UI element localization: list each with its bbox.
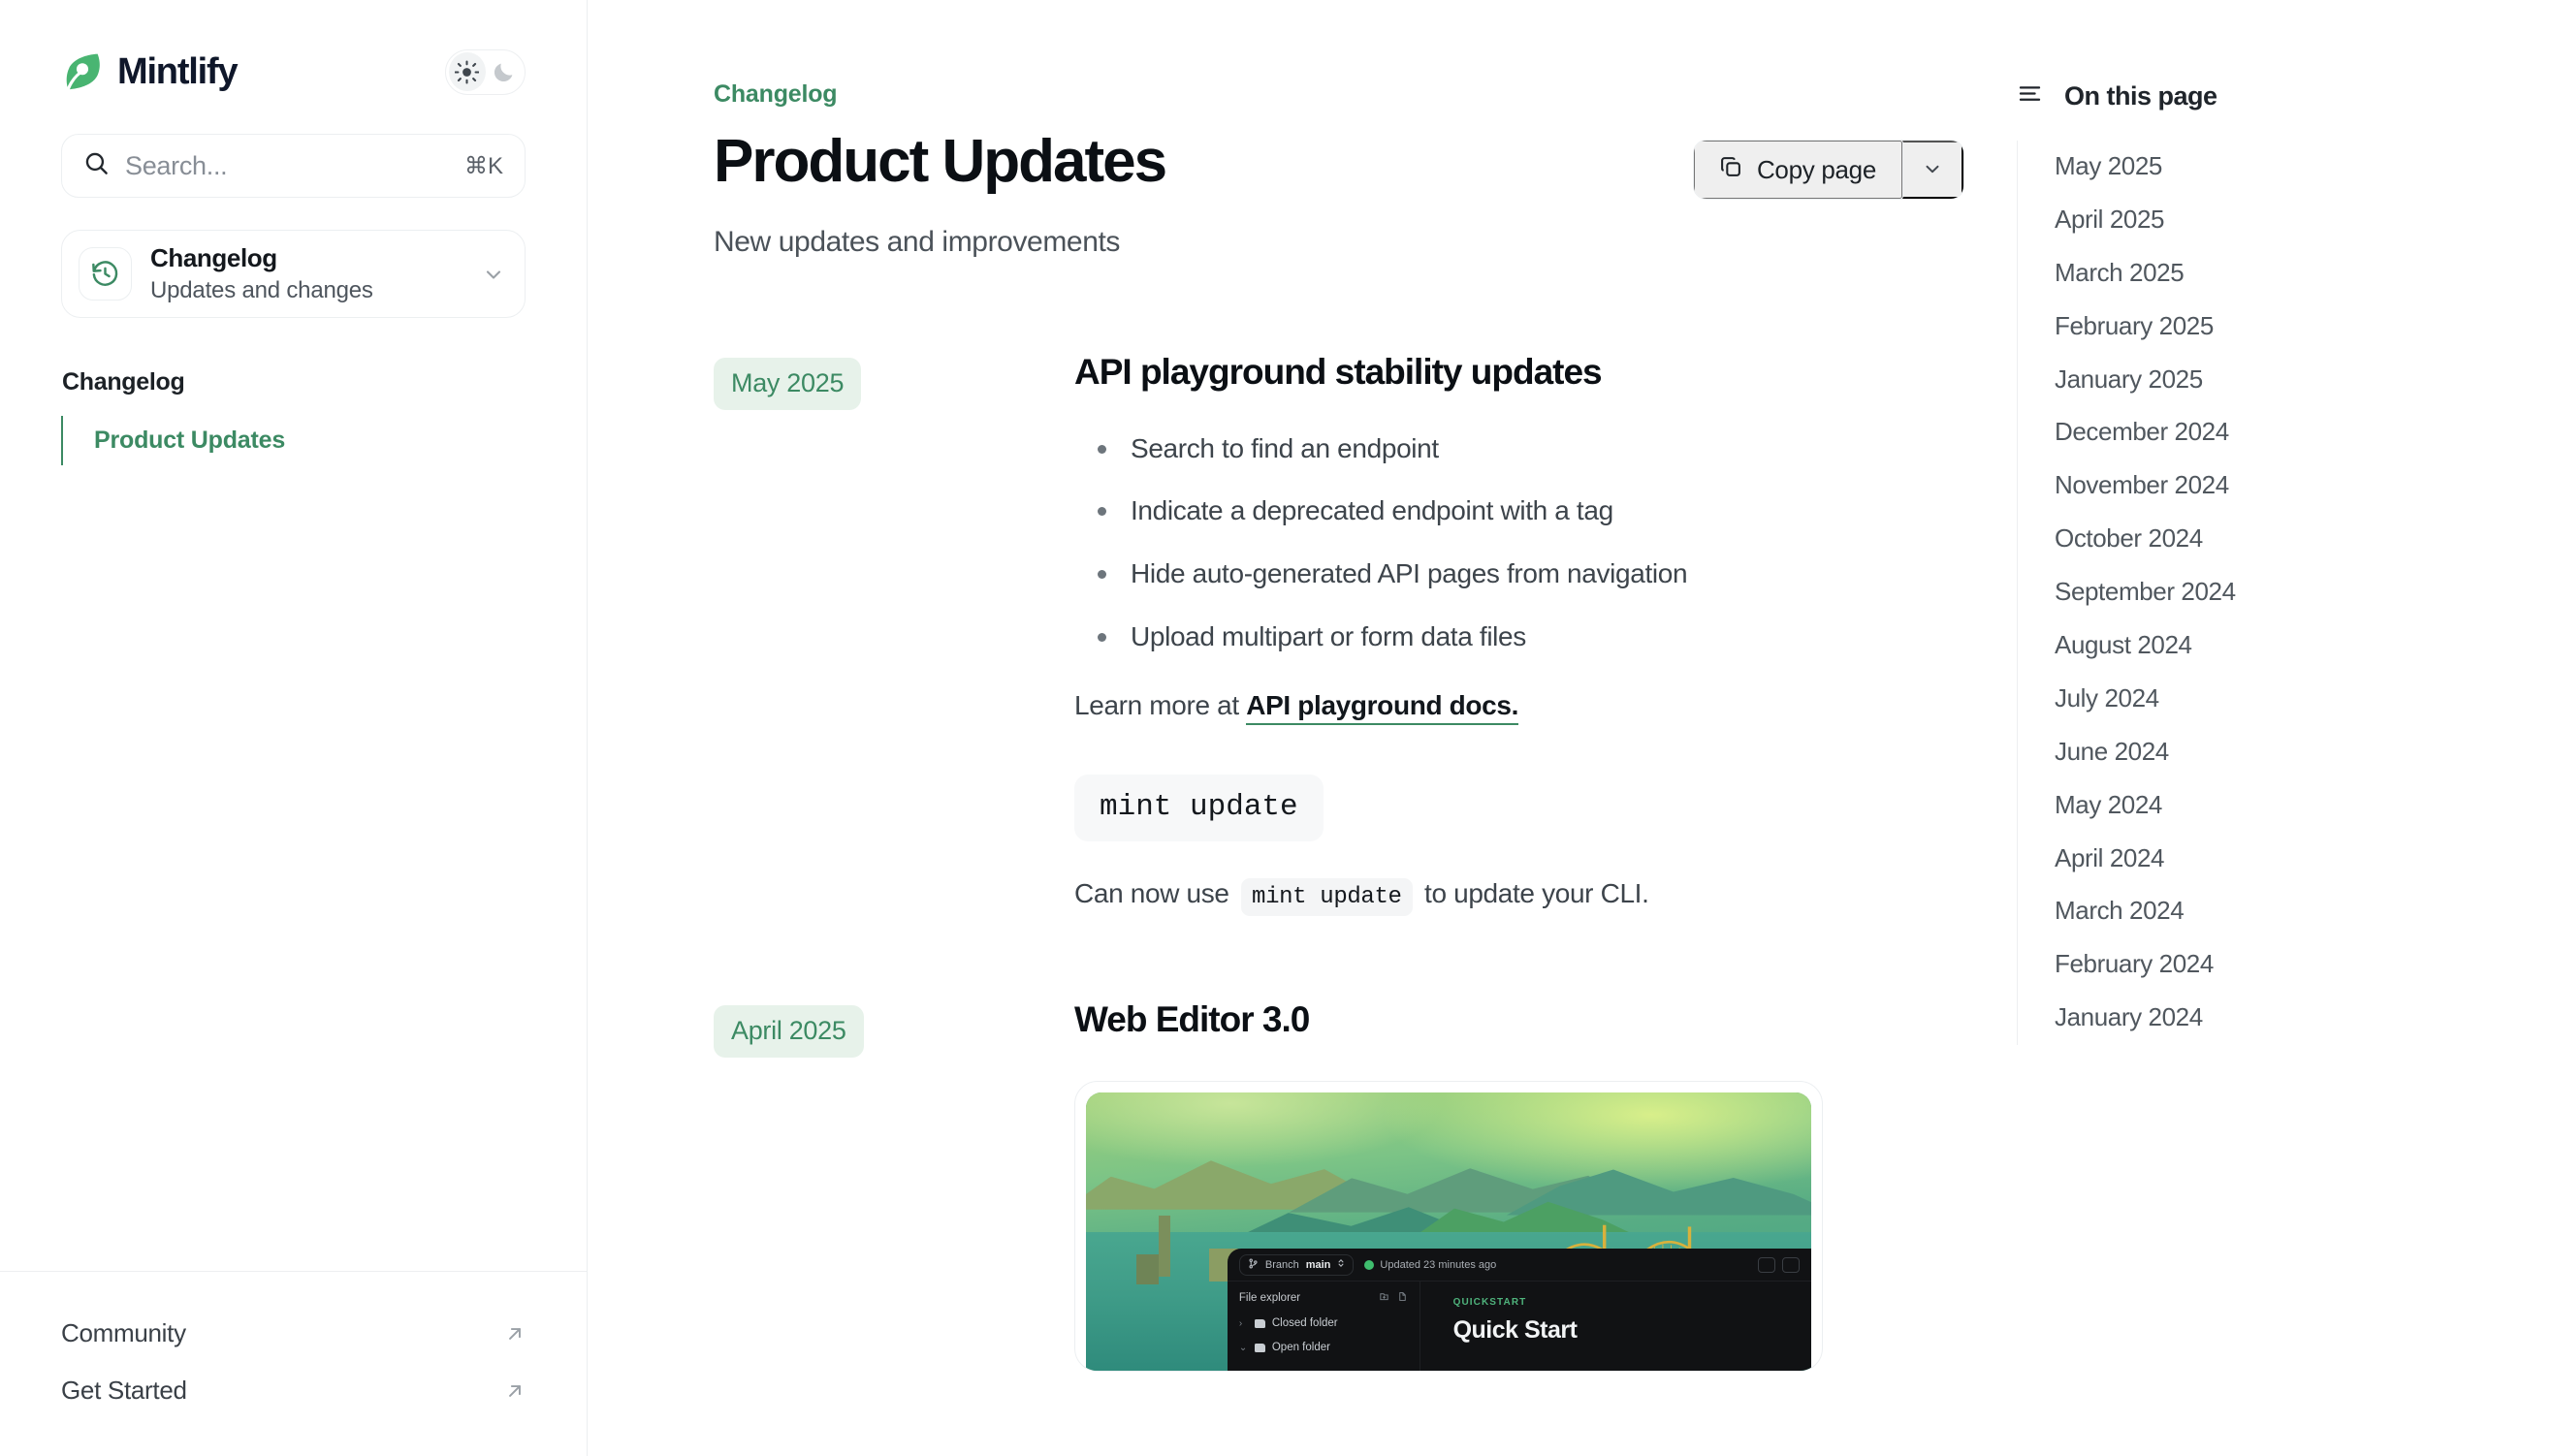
editor-window: Branch main <box>1228 1249 1811 1371</box>
table-of-contents: On this page May 2025 April 2025 March 2… <box>1959 0 2552 1045</box>
entry-date-column: April 2025 <box>714 999 1074 1058</box>
sidebar-footer: Community Get Started <box>0 1271 587 1456</box>
city-tower <box>1136 1254 1158 1285</box>
toc-item[interactable]: August 2024 <box>2018 619 2494 673</box>
file-explorer-panel: File explorer <box>1228 1282 1420 1371</box>
file-tree-label: Open folder <box>1272 1342 1330 1353</box>
toc-item[interactable]: March 2025 <box>2018 247 2494 301</box>
page-subtitle: New updates and improvements <box>714 226 1964 259</box>
toc-item[interactable]: July 2024 <box>2018 673 2494 726</box>
chevron-down-icon[interactable] <box>482 263 505 286</box>
editor-toolbar: Branch main <box>1228 1249 1811 1282</box>
branch-selector[interactable]: Branch main <box>1239 1254 1355 1276</box>
list-item: Indicate a deprecated endpoint with a ta… <box>1074 492 1964 529</box>
mintlify-leaf-logo-icon <box>61 50 104 93</box>
sidebar-brand-row: Mintlify <box>61 47 526 97</box>
editor-toolbar-actions <box>1758 1257 1800 1273</box>
cli-sentence-after: to update your CLI. <box>1418 878 1649 908</box>
toc-item[interactable]: October 2024 <box>2018 513 2494 566</box>
toc-item[interactable]: February 2024 <box>2018 938 2494 992</box>
sidebar-footer-link-get-started[interactable]: Get Started <box>61 1362 526 1419</box>
toc-item[interactable]: May 2024 <box>2018 779 2494 833</box>
editor-main: File explorer <box>1228 1282 1811 1371</box>
changelog-entry: May 2025 API playground stability update… <box>714 352 1964 910</box>
learn-more-paragraph: Learn more at API playground docs. <box>1074 690 1964 721</box>
list-icon <box>2017 80 2043 111</box>
toc-item[interactable]: January 2024 <box>2018 992 2494 1045</box>
main-content: Changelog Product Updates Copy page <box>588 0 2552 1456</box>
toc-header: On this page <box>2017 80 2494 111</box>
toc-item[interactable]: March 2024 <box>2018 885 2494 938</box>
file-explorer-actions <box>1379 1291 1408 1305</box>
changelog-entries: May 2025 API playground stability update… <box>714 352 1964 1372</box>
file-explorer-header: File explorer <box>1239 1291 1408 1305</box>
copy-page-group: Copy page <box>1693 140 1964 200</box>
list-item: Upload multipart or form data files <box>1074 618 1964 655</box>
toc-item[interactable]: April 2025 <box>2018 194 2494 247</box>
copy-page-label: Copy page <box>1757 155 1876 185</box>
sidebar-item-label: Product Updates <box>94 427 285 454</box>
editor-document-preview: QUICKSTART Quick Start <box>1420 1282 1811 1371</box>
folder-closed-icon <box>1255 1319 1265 1328</box>
learn-more-prefix: Learn more at <box>1074 690 1246 720</box>
chevron-right-icon: › <box>1239 1318 1248 1329</box>
api-playground-docs-link[interactable]: API playground docs. <box>1246 690 1518 725</box>
toc-item[interactable]: May 2025 <box>2018 141 2494 194</box>
city-tower <box>1159 1216 1170 1277</box>
sun-icon[interactable] <box>449 52 486 91</box>
file-tree-row[interactable]: › Closed folder <box>1239 1317 1408 1329</box>
editor-doc-kicker: QUICKSTART <box>1453 1297 1811 1308</box>
check-circle-icon <box>1364 1260 1374 1270</box>
editor-preview-icon[interactable] <box>1758 1257 1775 1273</box>
context-switcher-title: Changelog <box>150 243 277 272</box>
sidebar-item-product-updates[interactable]: Product Updates <box>63 416 526 465</box>
cli-update-sentence: Can now use mint update to update your C… <box>1074 878 1964 910</box>
new-file-icon[interactable] <box>1379 1291 1389 1305</box>
list-item: Search to find an endpoint <box>1074 430 1964 467</box>
toc-item[interactable]: February 2025 <box>2018 301 2494 354</box>
brand[interactable]: Mintlify <box>61 50 237 93</box>
editor-status: Updated 23 minutes ago <box>1364 1259 1496 1271</box>
breadcrumb[interactable]: Changelog <box>714 80 1964 109</box>
file-explorer-label: File explorer <box>1239 1292 1300 1304</box>
chevron-down-icon: ⌄ <box>1239 1343 1248 1353</box>
copy-page-dropdown-button[interactable] <box>1902 141 1963 199</box>
moon-icon[interactable] <box>486 52 523 91</box>
new-folder-icon[interactable] <box>1397 1291 1408 1305</box>
toc-item[interactable]: April 2024 <box>2018 833 2494 886</box>
editor-doc-heading: Quick Start <box>1453 1316 1811 1345</box>
toc-header-label: On this page <box>2064 81 2217 111</box>
file-tree-row[interactable]: ⌄ Open folder <box>1239 1342 1408 1353</box>
folder-open-icon <box>1255 1344 1265 1352</box>
context-switcher-subtitle: Updates and changes <box>150 275 463 305</box>
external-link-arrow-icon <box>504 1380 526 1402</box>
nav-group-title: Changelog <box>61 368 526 396</box>
toc-list: May 2025 April 2025 March 2025 February … <box>2017 141 2494 1045</box>
toc-item[interactable]: June 2024 <box>2018 726 2494 779</box>
app-root: Mintlify <box>0 0 2552 1456</box>
sidebar-top: Mintlify <box>0 0 587 465</box>
editor-status-text: Updated 23 minutes ago <box>1380 1259 1496 1271</box>
toc-item[interactable]: December 2024 <box>2018 406 2494 459</box>
entry-body: API playground stability updates Search … <box>1074 352 1964 910</box>
search-shortcut: ⌘K <box>464 152 503 180</box>
entry-heading: API playground stability updates <box>1074 352 1964 394</box>
page-header-row: Product Updates Copy page <box>714 130 1964 200</box>
toc-item[interactable]: September 2024 <box>2018 566 2494 619</box>
entry-heading: Web Editor 3.0 <box>1074 999 1964 1041</box>
changelog-entry: April 2025 Web Editor 3.0 <box>714 999 1964 1373</box>
date-badge[interactable]: May 2025 <box>714 358 861 410</box>
entry-bullet-list: Search to find an endpoint Indicate a de… <box>1074 430 1964 655</box>
editor-layout-icon[interactable] <box>1782 1257 1800 1273</box>
context-switcher-text: Changelog Updates and changes <box>150 242 463 306</box>
entry-date-column: May 2025 <box>714 352 1074 410</box>
entry-body: Web Editor 3.0 <box>1074 999 1964 1373</box>
copy-page-button[interactable]: Copy page <box>1694 141 1902 199</box>
toc-item[interactable]: January 2025 <box>2018 354 2494 407</box>
toc-item[interactable]: November 2024 <box>2018 459 2494 513</box>
brand-name: Mintlify <box>117 53 237 90</box>
page-title: Product Updates <box>714 130 1165 195</box>
file-tree-label: Closed folder <box>1272 1317 1338 1329</box>
copy-icon <box>1718 154 1743 186</box>
web-editor-screenshot: Branch main <box>1086 1092 1811 1371</box>
search-input[interactable]: Search... ⌘K <box>61 134 526 198</box>
sidebar-footer-link-label: Get Started <box>61 1376 187 1406</box>
sidebar-footer-link-community[interactable]: Community <box>61 1305 526 1362</box>
branch-name: main <box>1306 1259 1331 1271</box>
code-block-text: mint update <box>1100 790 1298 824</box>
date-badge[interactable]: April 2025 <box>714 1005 864 1058</box>
chevron-down-icon <box>1921 157 1944 183</box>
left-sidebar: Mintlify <box>0 0 588 1456</box>
search-icon <box>83 150 110 181</box>
inline-code: mint update <box>1241 878 1413 916</box>
sidebar-footer-link-label: Community <box>61 1318 186 1348</box>
nav-items: Product Updates <box>61 416 526 465</box>
code-block: mint update <box>1074 775 1324 841</box>
branch-label: Branch <box>1265 1259 1299 1271</box>
context-switcher-changelog[interactable]: Changelog Updates and changes <box>61 230 526 318</box>
clock-rewind-icon <box>79 247 132 301</box>
web-editor-screenshot-frame: Branch main <box>1074 1081 1823 1372</box>
git-branch-icon <box>1248 1258 1259 1272</box>
chevron-updown-icon <box>1337 1258 1345 1271</box>
sidebar-nav-group: Changelog Product Updates <box>61 368 526 465</box>
search-placeholder: Search... <box>125 151 449 181</box>
theme-toggle[interactable] <box>445 49 526 95</box>
document-body: Changelog Product Updates Copy page <box>714 0 1964 1372</box>
list-item: Hide auto-generated API pages from navig… <box>1074 555 1964 592</box>
cli-sentence-before: Can now use <box>1074 878 1236 908</box>
external-link-arrow-icon <box>504 1323 526 1345</box>
